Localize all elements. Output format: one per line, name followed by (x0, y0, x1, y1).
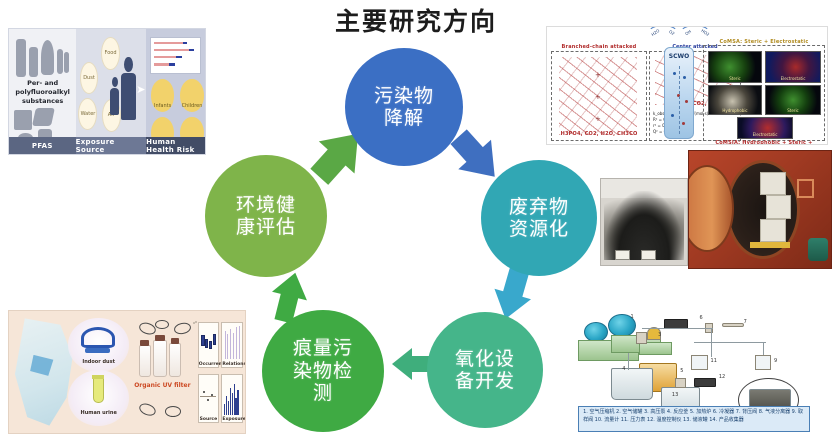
pfas-risk-infants: Infants (151, 79, 175, 112)
pfas-source-dust: Dust (80, 62, 98, 95)
schematic-caption: 1. 空气压缩机 2. 空气储罐 3. 高压泵 4. 反应釜 5. 加热炉 6.… (578, 406, 810, 432)
schematic-num-6: 6 (700, 315, 703, 321)
uv-product-cap-2 (155, 335, 164, 341)
schematic-num-1: 1 (631, 314, 634, 320)
pfas-caption: Per- and polyfluoroalkyl substances (12, 79, 73, 105)
scwo-reactor-label: SCWO (665, 53, 693, 60)
autoclave-sample-block-2 (766, 195, 792, 218)
schematic-pipe-mid (694, 342, 766, 343)
scwo-tile-label-3: Steric (766, 108, 820, 113)
uv-result-label-0: Occurrence (199, 362, 218, 367)
uv-product-cap-3 (171, 338, 179, 344)
pfas-risk-children: Children (180, 79, 204, 112)
pfas-arrow-icon: ➤ (136, 84, 145, 95)
uv-product-bottle-3 (169, 343, 181, 377)
pfas-panel-label-3: Human Health Risk (146, 137, 205, 154)
schematic-valve-1 (636, 332, 647, 344)
scwo-tile-0: Steric (708, 51, 762, 83)
schematic-num-12: 12 (719, 374, 725, 380)
schematic-reactor-vessel (611, 368, 652, 399)
scwo-reactor-column: SCWO (664, 47, 694, 139)
node-label-trace-detection: 痕量污 染物检 测 (293, 337, 353, 404)
scwo-tile-4: Electrostatic (737, 117, 793, 139)
uv-result-label-3: Exposure (222, 417, 241, 422)
uv-product-cap-1 (140, 340, 148, 346)
pfas-source-food: Food (101, 37, 120, 71)
autoclave-tray (750, 242, 790, 248)
figure-equipment-schematic: 1 3 4 5 6 7 9 11 12 13 8 1. 空气压缩机 2. 空气储… (556, 306, 832, 436)
figure-organic-uv-filter: Indoor dust Human urine Organic UV filte… (8, 310, 246, 434)
schematic-num-3: 3 (658, 332, 661, 338)
pfas-panel-label-1: PFAS (9, 137, 76, 154)
scwo-tile-label-4: Electrostatic (738, 132, 792, 137)
node-label-health-assessment: 环境健 康评估 (236, 194, 296, 239)
scwo-tile-label-2: Hydrophobic (709, 108, 761, 113)
pfas-panel-sources: Per- and polyfluoroalkyl substances PFAS (9, 29, 76, 154)
schematic-filter-1 (691, 355, 708, 369)
uv-result-source: Source (198, 374, 219, 423)
node-waste-resource[interactable]: 废弃物 资源化 (481, 160, 597, 276)
pfas-panel-label-2: Exposure Source (76, 137, 147, 154)
node-label-oxidation-equipment: 氧化设 备开发 (455, 348, 515, 393)
schematic-filter-2 (755, 355, 772, 369)
node-pollutant-degradation[interactable]: 污染物 降解 (345, 48, 463, 166)
uv-sample-label-0: Indoor dust (68, 359, 129, 365)
schematic-controller-2 (694, 378, 716, 387)
uv-result-label-2: Source (199, 417, 218, 422)
schematic-num-9: 9 (774, 358, 777, 364)
schematic-motor (639, 342, 672, 355)
figure-reactor-vessel (688, 150, 832, 269)
schematic-num-11: 11 (711, 358, 717, 364)
scwo-tile-3: Steric (765, 85, 821, 115)
node-label-waste-resource: 废弃物 资源化 (509, 196, 569, 241)
uv-product-bottle-1 (139, 345, 151, 377)
pfas-source-water: Water (78, 98, 97, 131)
pfas-panel-risk: Infants Children Teenagers Adults Human … (146, 29, 205, 154)
granules-scale-card-2 (641, 250, 656, 260)
figure-scwo-mechanism: Branched-chain attacked Center attacked … (546, 26, 828, 145)
uv-result-occurrence: Occurrence (198, 322, 219, 368)
scwo-tile-label-1: Electrostatic (766, 76, 820, 81)
autoclave-sample-block-1 (760, 172, 786, 195)
uv-sample-dust-bubble: Indoor dust (68, 318, 129, 372)
scwo-tile-label-0: Steric (709, 76, 761, 81)
uv-filter-title: Organic UV filter (122, 382, 202, 389)
uv-result-label-1: Relationship (222, 362, 241, 367)
schematic-gauge (722, 323, 744, 327)
uv-result-exposure: Exposure (221, 374, 242, 423)
scwo-product-left: H3PO4, CO2, H2O, CH3CO (553, 131, 645, 137)
autoclave-sample-block-3 (760, 219, 786, 242)
node-oxidation-equipment[interactable]: 氧化设 备开发 (427, 312, 543, 428)
autoclave-side-tank (808, 238, 828, 261)
slide-canvas: 主要研究方向 Per- and polyfluoroalkyl substanc… (0, 0, 832, 438)
node-health-assessment[interactable]: 环境健 康评估 (205, 155, 327, 277)
uv-sample-urine-bubble: Human urine (68, 370, 129, 426)
schematic-num-5: 5 (680, 368, 683, 374)
uv-result-relationship: Relationship (221, 322, 242, 368)
node-trace-detection[interactable]: 痕量污 染物检 测 (262, 310, 384, 432)
scwo-left-title: Branched-chain attacked (551, 44, 647, 50)
pfas-panel-exposure: Dust Food Water Air ➤ Exposure Source (76, 29, 147, 154)
schematic-pipe-top (642, 328, 714, 329)
uv-product-bottle-2 (153, 340, 167, 377)
autoclave-panel (797, 179, 814, 198)
scwo-tile-2: Hydrophobic (708, 85, 762, 115)
schematic-pipe-down-3 (628, 353, 629, 370)
schematic-num-7: 7 (744, 319, 747, 325)
figure-pfas-exposure: Per- and polyfluoroalkyl substances PFAS… (8, 28, 206, 155)
figure-black-granules (600, 178, 688, 266)
node-label-pollutant-degradation: 污染物 降解 (374, 85, 434, 130)
schematic-valve-4 (675, 378, 686, 388)
schematic-num-13: 13 (672, 392, 678, 398)
uv-sample-label-1: Human urine (68, 410, 129, 416)
scwo-bottom-title: CoMSIA: Hydrophobic + Steric + Electrost… (703, 140, 825, 145)
granules-scale-card-1 (615, 250, 630, 260)
schematic-num-4: 4 (622, 366, 625, 372)
scwo-right-title: CoMSA: Steric + Electrostatic (703, 39, 825, 45)
scwo-tile-1: Electrostatic (765, 51, 821, 83)
